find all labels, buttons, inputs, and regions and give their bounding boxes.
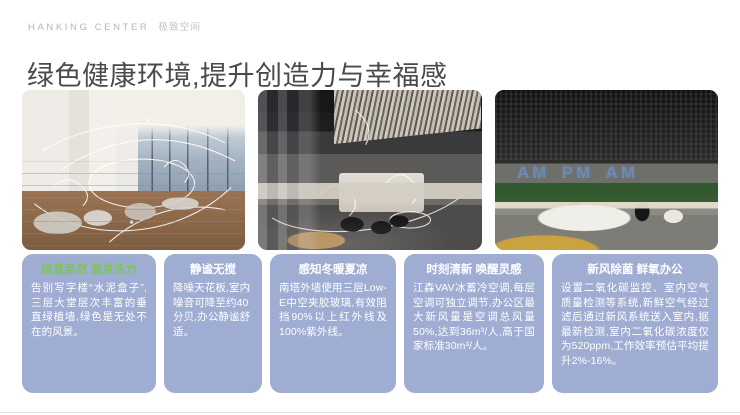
- panel-body: 南塔外墙使用三层Low-E中空夹胶玻璃,有效阻挡90%以上红外线及100%紫外线…: [279, 281, 387, 339]
- signage-am2-label: AM: [606, 163, 638, 183]
- feature-panel-row: 绿意盎然 激发活力 告别写字楼“水泥盒子”,三层大堂层次丰富的垂直绿植墙,绿色是…: [22, 254, 718, 393]
- panel-body: 设置二氧化碳监控、室内空气质量检测等系统,新鲜空气经过滤后通过新风系统送入室内,…: [561, 281, 709, 368]
- photo-card-garden-lounge: AM PM AM: [495, 90, 718, 250]
- page-title: 绿色健康环境,提升创造力与幸福感: [27, 58, 448, 94]
- signage-pm-label: PM: [562, 163, 594, 183]
- feature-panel-greenery[interactable]: 绿意盎然 激发活力 告别写字楼“水泥盒子”,三层大堂层次丰富的垂直绿植墙,绿色是…: [22, 254, 156, 393]
- bottom-divider: [0, 412, 740, 413]
- feature-panel-air-purification[interactable]: 新风除菌 鲜氧办公 设置二氧化碳监控、室内空气质量检测等系统,新鲜空气经过滤后通…: [552, 254, 718, 393]
- panel-title: 感知冬暖夏凉: [299, 263, 368, 278]
- photo-gallery: AM PM AM: [22, 90, 718, 250]
- signage-am-label: AM: [517, 163, 549, 183]
- light-trail-overlay-icon: [258, 90, 481, 250]
- panel-title: 新风除菌 鲜氧办公: [587, 263, 682, 278]
- panel-title: 绿意盎然 激发活力: [41, 263, 136, 278]
- panel-body: 降噪天花板,室内噪音可降至约40分贝,办公静谧舒适。: [173, 281, 253, 339]
- glass-signage-overlay: AM PM AM: [504, 160, 718, 186]
- brand-latin-label: HANKING CENTER: [28, 22, 149, 33]
- panel-title: 时刻清新 唤醒灵感: [426, 263, 521, 278]
- feature-panel-quiet[interactable]: 静谧无搅 降噪天花板,室内噪音可降至约40分贝,办公静谧舒适。: [164, 254, 262, 393]
- feature-panel-thermal[interactable]: 感知冬暖夏凉 南塔外墙使用三层Low-E中空夹胶玻璃,有效阻挡90%以上红外线及…: [270, 254, 396, 393]
- slide-header: HANKING CENTER 极致空间: [28, 19, 201, 33]
- panel-body: 江森VAV冰蓄冷空调,每层空调可独立调节,办公区最大新风量是空调总风量50%,达…: [413, 281, 535, 354]
- photo-card-dark-lobby: [258, 90, 481, 250]
- panel-title: 静谧无搅: [190, 263, 236, 278]
- photo-card-lounge-bookshelf: [22, 90, 245, 250]
- light-trail-overlay-icon: [22, 90, 245, 250]
- brand-chinese-label: 极致空间: [158, 19, 201, 33]
- feature-panel-fresh-air[interactable]: 时刻清新 唤醒灵感 江森VAV冰蓄冷空调,每层空调可独立调节,办公区最大新风量是…: [404, 254, 544, 393]
- lobby-coffee-table: [339, 173, 424, 211]
- panel-body: 告别写字楼“水泥盒子”,三层大堂层次丰富的垂直绿植墙,绿色是无处不在的风景。: [31, 281, 147, 339]
